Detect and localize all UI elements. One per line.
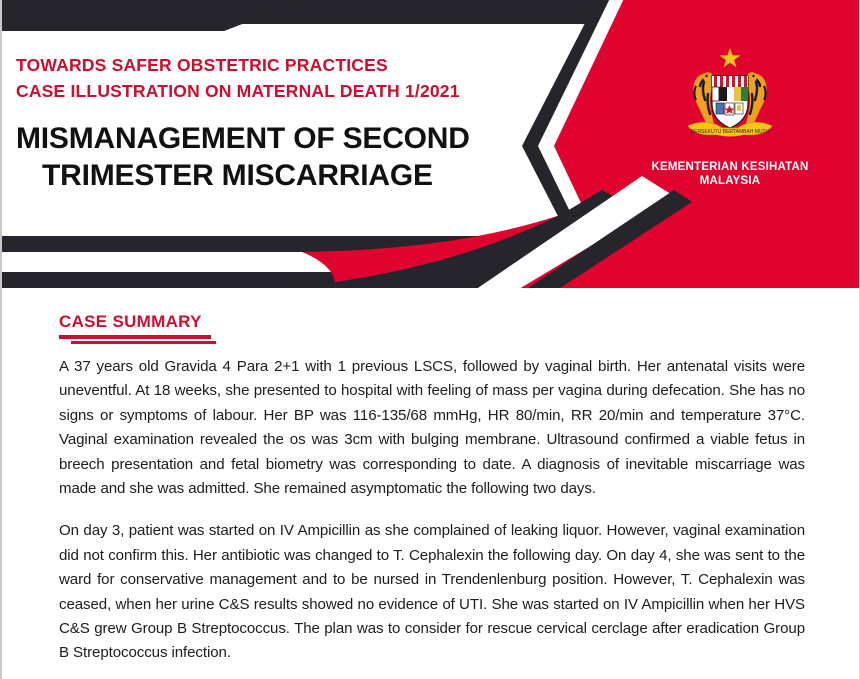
page-title-line-2: TRIMESTER MISCARRIAGE	[16, 157, 556, 194]
ministry-name-line-2: MALAYSIA	[650, 174, 810, 188]
case-paragraph: A 37 years old Gravida 4 Para 2+1 with 1…	[59, 355, 805, 501]
kicker-line-2: CASE ILLUSTRATION ON MATERNAL DEATH 1/20…	[16, 78, 556, 104]
page-title: MISMANAGEMENT OF SECOND TRIMESTER MISCAR…	[16, 120, 556, 194]
kicker-line-1: TOWARDS SAFER OBSTETRIC PRACTICES	[16, 52, 556, 78]
page-title-line-1: MISMANAGEMENT OF SECOND	[16, 120, 556, 157]
case-summary-heading-wrap: CASE SUMMARY	[59, 312, 216, 344]
heading-underline	[59, 335, 211, 339]
malaysia-coat-of-arms-icon: BERSEKUTU BERTAMBAH MUTU	[670, 42, 790, 154]
ministry-name: KEMENTERIAN KESIHATAN MALAYSIA	[650, 160, 810, 188]
case-summary-text: A 37 years old Gravida 4 Para 2+1 with 1…	[59, 355, 805, 666]
heading-underline-secondary	[71, 341, 216, 344]
emblem-block: BERSEKUTU BERTAMBAH MUTU KEMENTERIAN KES…	[650, 42, 810, 188]
crescent-star-icon	[718, 48, 742, 74]
document-page: TOWARDS SAFER OBSTETRIC PRACTICES CASE I…	[0, 0, 860, 679]
header-text-block: TOWARDS SAFER OBSTETRIC PRACTICES CASE I…	[16, 52, 556, 194]
svg-text:BERSEKUTU BERTAMBAH MUTU: BERSEKUTU BERTAMBAH MUTU	[691, 129, 770, 135]
case-summary-heading: CASE SUMMARY	[59, 312, 216, 332]
ministry-name-line-1: KEMENTERIAN KESIHATAN	[650, 160, 810, 174]
banner-bottom-clip	[2, 288, 860, 292]
shield-icon	[712, 76, 748, 128]
case-paragraph: On day 3, patient was started on IV Ampi…	[59, 519, 805, 665]
